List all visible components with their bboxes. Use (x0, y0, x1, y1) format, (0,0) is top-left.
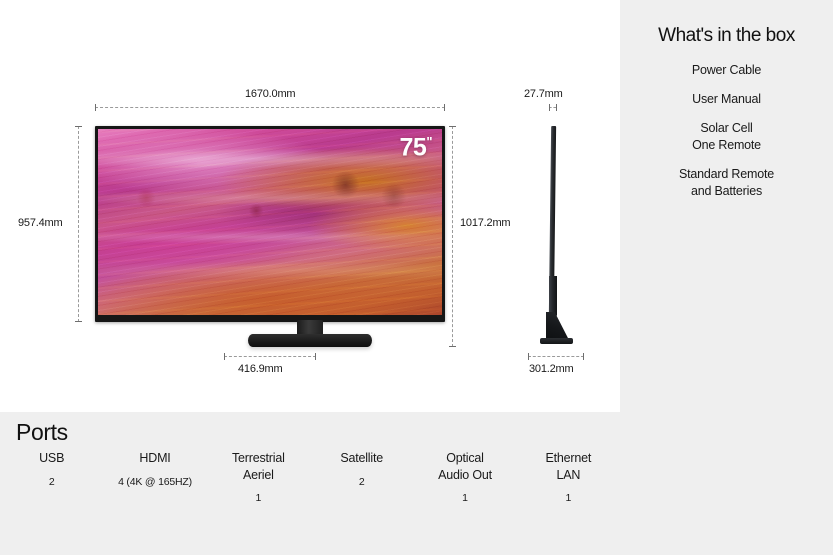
dimension-cap-left (95, 104, 96, 111)
port-ethernet-lan: Ethernet LAN 1 (517, 450, 620, 504)
dimension-cap-stand-depth-left (528, 353, 529, 360)
dimension-label-total-height: 1017.2mm (460, 217, 510, 229)
port-satellite-value: 2 (312, 476, 411, 488)
dimension-cap-depth-right (556, 104, 557, 111)
whats-in-the-box-panel: What's in the box Power Cable User Manua… (620, 0, 833, 555)
dimension-line-front-width (95, 107, 445, 109)
port-hdmi: HDMI 4 (4K @ 165HZ) (103, 450, 206, 488)
whats-in-the-box-title: What's in the box (620, 25, 833, 47)
port-usb-value: 2 (2, 476, 101, 488)
port-satellite: Satellite 2 (310, 450, 413, 488)
dimension-line-stand-width (224, 356, 316, 358)
dimension-cap-stand-left (224, 353, 225, 360)
dimension-cap-right (444, 104, 445, 111)
dimension-cap-total-top (449, 126, 456, 127)
ports-title: Ports (16, 419, 68, 446)
port-satellite-label: Satellite (312, 450, 411, 467)
dimension-label-side-depth: 27.7mm (524, 88, 563, 100)
screen-texture-waves (98, 129, 442, 315)
dimension-cap-top (75, 126, 82, 127)
port-ethernet-lan-value: 1 (519, 492, 618, 504)
dimension-cap-stand-depth-right (583, 353, 584, 360)
dimension-cap-stand-right (315, 353, 316, 360)
port-usb-label: USB (2, 450, 101, 467)
dimension-cap-depth-left (549, 104, 550, 111)
port-optical-audio-out: Optical Audio Out 1 (413, 450, 516, 504)
port-terrestrial-aeriel-label: Terrestrial Aeriel (209, 450, 308, 483)
port-ethernet-lan-label: Ethernet LAN (519, 450, 618, 483)
box-item-solar-cell-one-remote: Solar Cell One Remote (620, 120, 833, 154)
port-optical-audio-out-label: Optical Audio Out (415, 450, 514, 483)
tv-screen-artwork: 75" (98, 129, 442, 315)
tv-spec-sheet: 1670.0mm 957.4mm 1017.2mm 416.9mm 75" (0, 0, 833, 555)
dimension-line-stand-depth (528, 356, 584, 358)
box-item-standard-remote-and-batteries: Standard Remote and Batteries (620, 166, 833, 200)
screen-size-badge: 75" (400, 135, 432, 160)
ports-row: USB 2 HDMI 4 (4K @ 165HZ) Terrestrial Ae… (0, 450, 620, 504)
dimension-cap-total-bottom (449, 346, 456, 347)
tv-front-view: 75" (95, 126, 445, 322)
dimension-label-front-width: 1670.0mm (245, 88, 295, 100)
whats-in-the-box-list: Power Cable User Manual Solar Cell One R… (620, 62, 833, 212)
dimension-cap-bottom (75, 321, 82, 322)
box-item-user-manual: User Manual (620, 91, 833, 108)
port-terrestrial-aeriel: Terrestrial Aeriel 1 (207, 450, 310, 504)
tv-stand-base (248, 334, 372, 347)
screen-size-unit: " (426, 134, 432, 149)
dimension-line-total-height (452, 126, 454, 347)
port-hdmi-label: HDMI (105, 450, 204, 467)
dimension-label-stand-depth: 301.2mm (529, 363, 573, 375)
tv-side-panel-thick (549, 276, 557, 316)
tv-side-view (540, 126, 574, 348)
dimensions-panel: 1670.0mm 957.4mm 1017.2mm 416.9mm 75" (0, 0, 620, 412)
tv-bezel: 75" (95, 126, 445, 322)
screen-size-value: 75 (400, 133, 427, 161)
dimension-label-stand-width: 416.9mm (238, 363, 282, 375)
box-item-power-cable: Power Cable (620, 62, 833, 79)
dimension-line-panel-height (78, 126, 80, 322)
dimension-line-side-depth (549, 107, 556, 109)
port-terrestrial-aeriel-value: 1 (209, 492, 308, 504)
dimension-label-panel-height: 957.4mm (18, 217, 62, 229)
port-hdmi-value: 4 (4K @ 165HZ) (105, 476, 204, 488)
port-optical-audio-out-value: 1 (415, 492, 514, 504)
port-usb: USB 2 (0, 450, 103, 488)
tv-side-stand-foot (540, 338, 573, 344)
